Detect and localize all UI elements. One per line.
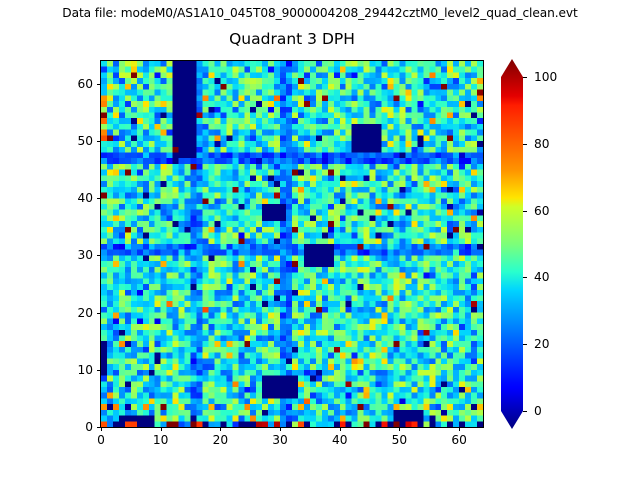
x-tick-mark <box>459 427 460 431</box>
colorbar-tick-label: 80 <box>534 137 550 151</box>
colorbar-tick-mark <box>523 77 527 78</box>
x-tick-label: 30 <box>272 433 288 447</box>
y-tick-label: 40 <box>61 191 93 205</box>
y-tick-label: 30 <box>61 248 93 262</box>
colorbar-tick-label: 100 <box>534 70 557 84</box>
y-tick-mark <box>97 84 101 85</box>
y-tick-mark <box>97 313 101 314</box>
y-tick-label: 20 <box>61 306 93 320</box>
y-tick-mark <box>97 141 101 142</box>
page-title: Quadrant 3 DPH <box>101 30 483 48</box>
x-tick-mark <box>340 427 341 431</box>
x-tick-mark <box>399 427 400 431</box>
colorbar-tick-mark <box>523 211 527 212</box>
colorbar-tick-mark <box>523 277 527 278</box>
colorbar-tick-label: 20 <box>534 337 550 351</box>
colorbar-tick-mark <box>523 411 527 412</box>
y-tick-label: 50 <box>61 134 93 148</box>
colorbar-body <box>501 59 523 429</box>
heatmap-axes <box>100 60 484 428</box>
y-tick-label: 0 <box>61 420 93 434</box>
x-tick-label: 60 <box>451 433 467 447</box>
colorbar: 020406080100 <box>501 59 621 431</box>
x-tick-mark <box>220 427 221 431</box>
x-tick-mark <box>161 427 162 431</box>
figure-canvas: Data file: modeM0/AS1A10_045T08_90000042… <box>0 0 640 480</box>
y-tick-label: 60 <box>61 77 93 91</box>
x-tick-label: 50 <box>392 433 408 447</box>
x-tick-mark <box>101 427 102 431</box>
y-tick-mark <box>97 255 101 256</box>
x-tick-label: 10 <box>153 433 169 447</box>
x-tick-mark <box>280 427 281 431</box>
x-tick-label: 20 <box>213 433 229 447</box>
data-file-suptitle: Data file: modeM0/AS1A10_045T08_90000042… <box>0 6 640 20</box>
y-tick-mark <box>97 427 101 428</box>
y-tick-mark <box>97 370 101 371</box>
colorbar-tick-mark <box>523 144 527 145</box>
y-tick-mark <box>97 198 101 199</box>
colorbar-tick-label: 60 <box>534 204 550 218</box>
x-tick-label: 0 <box>97 433 105 447</box>
y-tick-label: 10 <box>61 363 93 377</box>
colorbar-tick-label: 40 <box>534 270 550 284</box>
colorbar-gradient <box>501 59 531 431</box>
heatmap-image <box>101 61 483 427</box>
x-tick-label: 40 <box>332 433 348 447</box>
colorbar-tick-label: 0 <box>534 404 542 418</box>
colorbar-tick-mark <box>523 344 527 345</box>
